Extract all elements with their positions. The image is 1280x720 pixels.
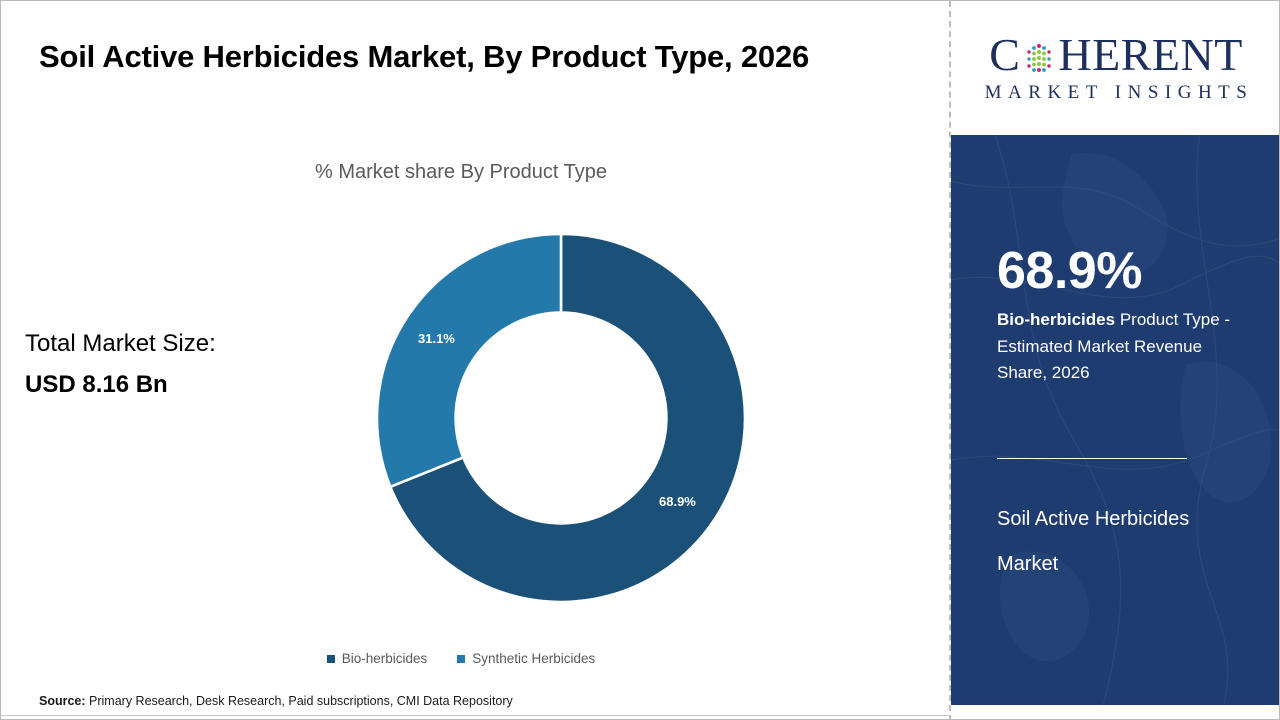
donut-label-bio-herbicides: 68.9%: [659, 494, 696, 509]
brand-logo: C: [951, 1, 1280, 135]
brand-logo-letter-c: C: [989, 32, 1020, 78]
total-market-size-label: Total Market Size:: [25, 323, 216, 364]
footer-divider: [1, 715, 949, 716]
page-title: Soil Active Herbicides Market, By Produc…: [39, 33, 899, 81]
brand-logo-wordmark: C: [989, 32, 1243, 78]
highlight-content: 68.9% Bio-herbicides Product Type - Esti…: [997, 135, 1257, 705]
source-note: Source: Primary Research, Desk Research,…: [39, 694, 513, 708]
chart-legend: Bio-herbicides Synthetic Herbicides: [1, 651, 921, 666]
highlight-stat-description: Bio-herbicides Product Type - Estimated …: [997, 307, 1245, 387]
legend-swatch-icon: [457, 655, 465, 663]
donut-chart-svg: [374, 231, 748, 605]
chart-subtitle: % Market share By Product Type: [1, 161, 921, 184]
source-label: Source:: [39, 694, 86, 708]
total-market-size-block: Total Market Size: USD 8.16 Bn: [25, 323, 216, 406]
dotted-globe-icon: [1021, 39, 1057, 75]
total-market-size-value: USD 8.16 Bn: [25, 364, 216, 405]
brand-panel-region: C: [951, 1, 1280, 720]
highlight-stat-value: 68.9%: [997, 245, 1142, 297]
legend-label-bio-herbicides: Bio-herbicides: [342, 651, 428, 666]
chart-region: Soil Active Herbicides Market, By Produc…: [1, 1, 949, 720]
legend-item-bio-herbicides[interactable]: Bio-herbicides: [327, 651, 428, 666]
brand-logo-tagline: MARKET INSIGHTS: [979, 82, 1254, 104]
legend-swatch-icon: [327, 655, 335, 663]
highlight-market-name: Soil Active Herbicides Market: [997, 497, 1227, 587]
donut-hole: [454, 311, 667, 524]
donut-chart: 31.1% 68.9%: [374, 231, 748, 605]
legend-item-synthetic-herbicides[interactable]: Synthetic Herbicides: [457, 651, 595, 666]
brand-logo-letters-herent: HERENT: [1058, 32, 1242, 78]
highlight-panel: 68.9% Bio-herbicides Product Type - Esti…: [951, 135, 1280, 705]
highlight-divider: [997, 458, 1187, 459]
highlight-stat-subject: Bio-herbicides: [997, 310, 1115, 329]
legend-label-synthetic-herbicides: Synthetic Herbicides: [472, 651, 595, 666]
infographic-page: Soil Active Herbicides Market, By Produc…: [0, 0, 1280, 720]
source-text: Primary Research, Desk Research, Paid su…: [86, 694, 513, 708]
donut-label-synthetic-herbicides: 31.1%: [418, 331, 455, 346]
